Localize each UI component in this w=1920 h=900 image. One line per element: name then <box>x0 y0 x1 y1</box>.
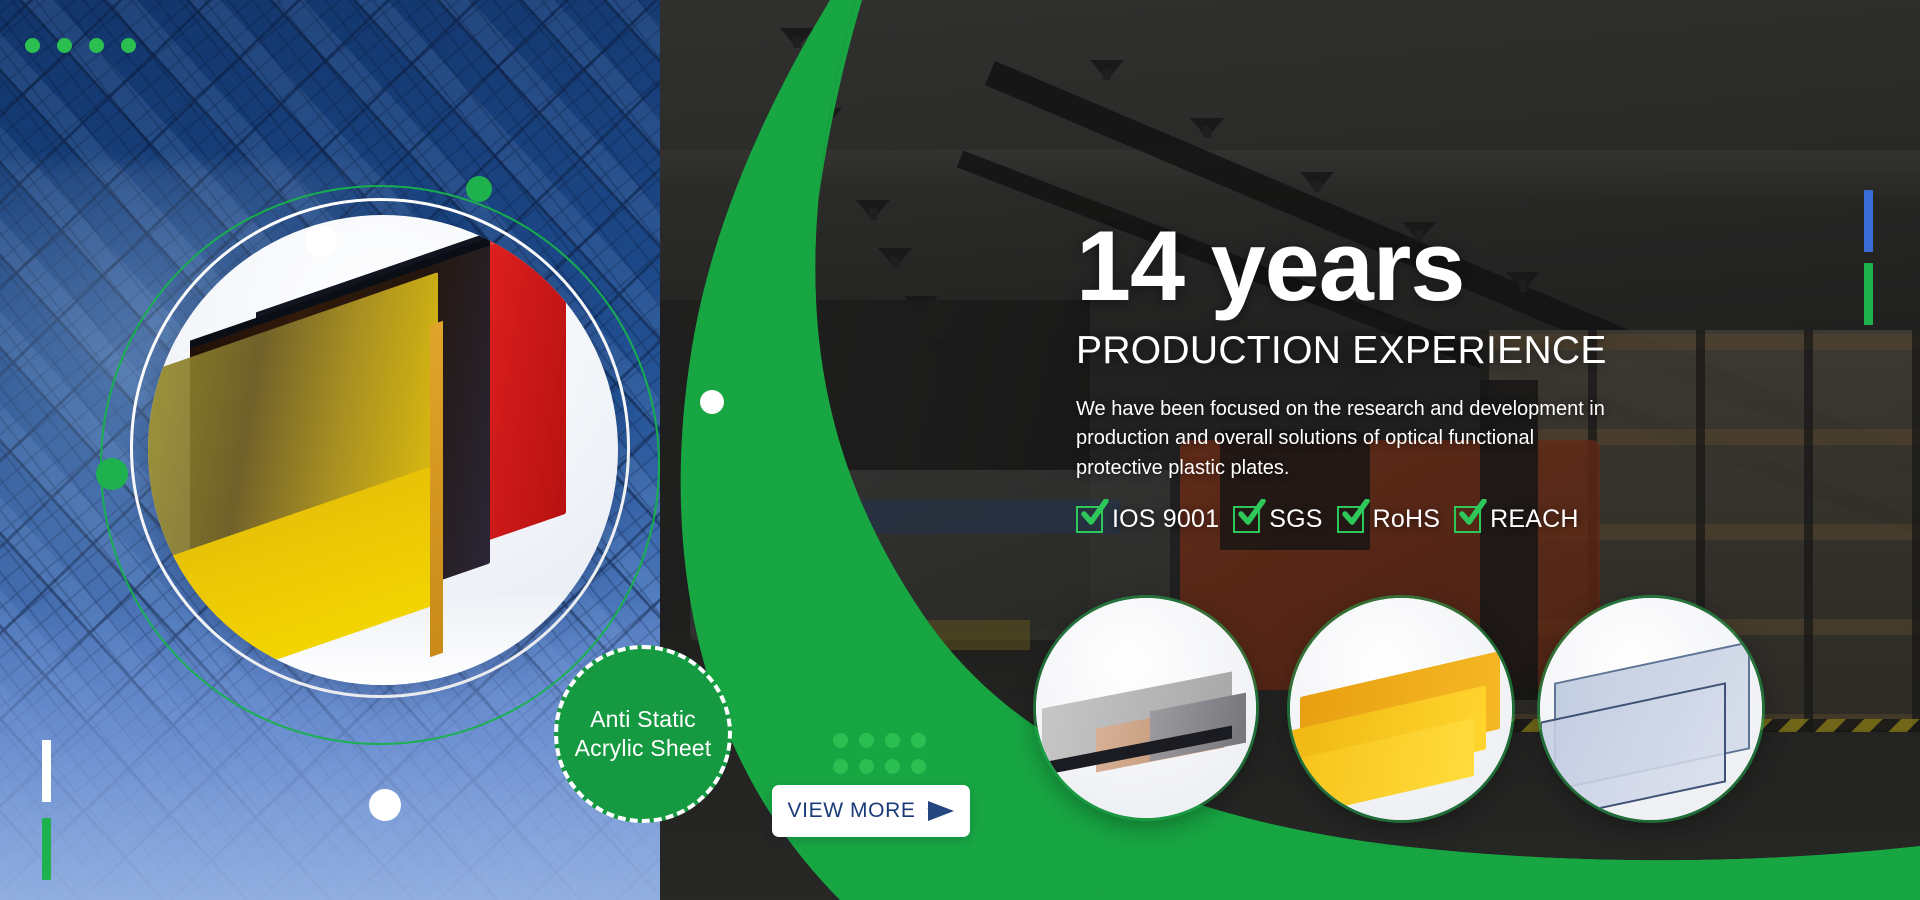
certification-label: RoHS <box>1373 505 1441 534</box>
check-icon <box>1076 506 1103 533</box>
badge-line-2: Acrylic Sheet <box>575 734 712 763</box>
headline-years: 14 years <box>1076 218 1636 313</box>
certification-list: IOS 9001 SGS RoHS REACH <box>1076 505 1636 534</box>
decor-dot <box>885 733 900 748</box>
top-left-dot-decoration <box>25 38 136 53</box>
decor-dot <box>121 38 136 53</box>
yellow-sheet-edge <box>430 321 443 657</box>
decor-dot <box>885 759 900 774</box>
certification-label: REACH <box>1490 505 1579 534</box>
decor-dot <box>833 759 848 774</box>
main-product-photo-circle <box>148 215 618 685</box>
dot-grid-decoration <box>833 733 937 785</box>
decor-dot <box>89 38 104 53</box>
decor-dot <box>25 38 40 53</box>
decor-white-dot <box>700 390 724 414</box>
arrow-right-icon <box>928 801 954 821</box>
product-circle-gray-sheets[interactable] <box>1036 598 1256 818</box>
decor-dot <box>911 733 926 748</box>
certification-item-rohs: RoHS <box>1337 505 1441 534</box>
decor-bar-green-left <box>42 818 51 880</box>
decor-dot <box>833 733 848 748</box>
product-circle-clear-sheets[interactable] <box>1540 598 1762 820</box>
decor-bar-white-left <box>42 740 51 802</box>
decor-white-dot <box>369 789 401 821</box>
badge-line-1: Anti Static <box>590 705 696 734</box>
certification-item-sgs: SGS <box>1233 505 1322 534</box>
decor-green-dot <box>96 458 128 490</box>
certification-item-reach: REACH <box>1454 505 1579 534</box>
decor-bar-green-right <box>1864 263 1873 325</box>
hero-copy-block: 14 years PRODUCTION EXPERIENCE We have b… <box>1076 218 1636 534</box>
check-icon <box>1337 506 1364 533</box>
decor-dot <box>57 38 72 53</box>
subheadline-production-experience: PRODUCTION EXPERIENCE <box>1076 329 1636 373</box>
decor-bar-blue-right <box>1864 190 1873 252</box>
product-circle-yellow-sheets[interactable] <box>1290 598 1512 820</box>
view-more-button[interactable]: VIEW MORE <box>772 785 970 837</box>
anti-static-acrylic-sheet-badge[interactable]: Anti Static Acrylic Sheet <box>554 645 732 823</box>
check-icon <box>1233 506 1260 533</box>
certification-label: IOS 9001 <box>1112 505 1219 534</box>
certification-item-ios9001: IOS 9001 <box>1076 505 1219 534</box>
certification-label: SGS <box>1269 505 1322 534</box>
decor-white-dot <box>305 225 337 257</box>
decor-green-dot <box>466 176 492 202</box>
check-icon <box>1454 506 1481 533</box>
decor-dot <box>859 733 874 748</box>
decor-dot <box>911 759 926 774</box>
hero-banner: Anti Static Acrylic Sheet VIEW MORE 14 y… <box>0 0 1920 900</box>
view-more-label: VIEW MORE <box>788 799 916 823</box>
description-text: We have been focused on the research and… <box>1076 395 1606 483</box>
decor-dot <box>859 759 874 774</box>
